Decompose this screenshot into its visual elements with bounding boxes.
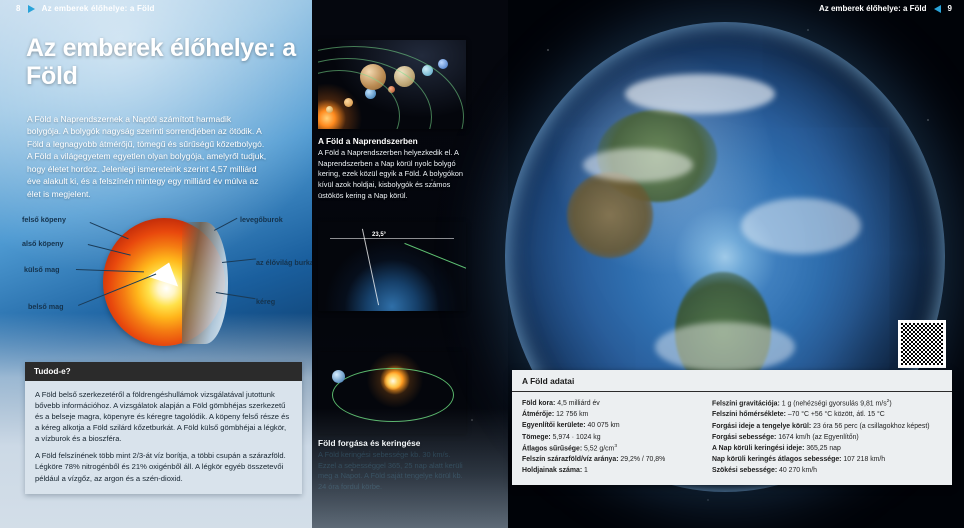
earth-data-table: A Föld adatai Föld kora: 4,5 milliárd év…	[512, 370, 952, 485]
leader-line	[90, 222, 129, 239]
qr-code-pattern	[901, 323, 943, 365]
cloud-band	[583, 148, 693, 182]
earth-data-column-right: Felszíni gravitációja: 1 g (nehézségi gy…	[712, 398, 948, 477]
table-row: Felszíni hőmérséklete: –70 °C +56 °C köz…	[712, 409, 948, 420]
table-row: Föld kora: 4,5 milliárd év	[522, 398, 702, 409]
right-header-title: Az emberek élőhelye: a Föld	[819, 4, 927, 13]
cloud-band	[625, 74, 775, 114]
label-crust: kéreg	[256, 297, 275, 306]
planet-neptune	[438, 59, 448, 69]
table-row: A Nap körüli keringési ideje: 365,25 nap	[712, 443, 948, 454]
left-page-header: 8 Az emberek élőhelye: a Föld	[16, 4, 155, 13]
table-row: Átmérője: 12 756 km	[522, 409, 702, 420]
leader-line	[214, 218, 237, 231]
axial-tilt-image	[318, 222, 466, 311]
cloud-band	[741, 198, 861, 254]
label-biosphere: az élővilág burka	[256, 258, 314, 267]
did-you-know-title: Tudod-e?	[25, 362, 302, 381]
did-you-know-paragraph: A Föld felszínének több mint 2/3-át víz …	[35, 450, 292, 483]
earth-orbit-image	[318, 352, 466, 434]
did-you-know-box: Tudod-e? A Föld belső szerkezetéről a fö…	[25, 362, 302, 494]
table-row: Egyenlítői kerülete: 40 075 km	[522, 420, 702, 431]
sunlight-ray	[404, 243, 466, 270]
label-inner-core: belső mag	[28, 302, 64, 311]
cloud-band	[655, 322, 795, 372]
earth-cross-section-diagram: felső köpeny alső köpeny külső mag belső…	[18, 210, 308, 350]
earth-data-column-left: Föld kora: 4,5 milliárd évÁtmérője: 12 7…	[522, 398, 702, 477]
tilt-angle-label: 23,5°	[372, 232, 386, 238]
solar-system-image	[318, 40, 466, 129]
table-row: Átlagos sűrűsége: 5,52 g/cm3	[522, 443, 702, 454]
earth-data-table-title: A Föld adatai	[512, 370, 952, 392]
earth-data-table-body: Föld kora: 4,5 milliárd évÁtmérője: 12 7…	[512, 392, 952, 485]
did-you-know-body: A Föld belső szerkezetéről a földrengésh…	[25, 381, 302, 494]
sun-marker	[384, 372, 402, 390]
table-row: Felszíni gravitációja: 1 g (nehézségi gy…	[712, 398, 948, 409]
qr-code[interactable]	[898, 320, 946, 368]
earth-marker	[332, 370, 345, 383]
label-lower-mantle: alső köpeny	[22, 239, 64, 248]
rotation-axis-line	[362, 229, 379, 306]
label-upper-mantle: felső köpeny	[22, 215, 66, 224]
left-page-number: 8	[16, 4, 21, 13]
triangle-right-icon	[28, 5, 35, 13]
table-row: Felszín szárazföld/víz aránya: 29,2% / 7…	[522, 454, 702, 465]
right-page-number: 9	[948, 4, 952, 13]
solar-system-caption-title: A Föld a Naprendszerben	[318, 136, 418, 146]
left-header-title: Az emberek élőhelye: a Föld	[42, 4, 155, 13]
table-row: Forgási sebessége: 1674 km/h (az Egyenlí…	[712, 432, 948, 443]
did-you-know-paragraph: A Föld belső szerkezetéről a földrengésh…	[35, 389, 292, 444]
landmass-southwest	[567, 172, 653, 258]
right-page-header: Az emberek élőhelye: a Föld 9	[819, 4, 952, 13]
orbit-caption-title: Föld forgása és keringése	[318, 438, 420, 448]
leader-line	[222, 258, 256, 263]
table-row: Szökési sebessége: 40 270 km/h	[712, 465, 948, 476]
table-row: Tömege: 5,974 · 1024 kg	[522, 432, 702, 443]
solar-system-caption-body: A Föld a Naprendszerben helyezkedik el. …	[318, 148, 470, 201]
orbit-caption-body: A Föld keringési sebessége kb. 30 km/s. …	[318, 450, 470, 493]
label-outer-core: külső mag	[24, 265, 60, 274]
table-row: Holdjainak száma: 1	[522, 465, 702, 476]
label-atmosphere: levegőburok	[240, 215, 283, 224]
textbook-spread: 8 Az emberek élőhelye: a Föld Az emberek…	[0, 0, 964, 528]
table-row: Forgási ideje a tengelye körül: 23 óra 5…	[712, 421, 948, 432]
page-title: Az emberek élőhelye: a Föld	[26, 34, 306, 91]
table-row: Nap körüli keringés átlagos sebessége: 1…	[712, 454, 948, 465]
triangle-left-icon	[934, 5, 941, 13]
intro-paragraph: A Föld a Naprendszernek a Naptól számíto…	[27, 113, 267, 200]
ecliptic-plane-line	[330, 238, 454, 239]
